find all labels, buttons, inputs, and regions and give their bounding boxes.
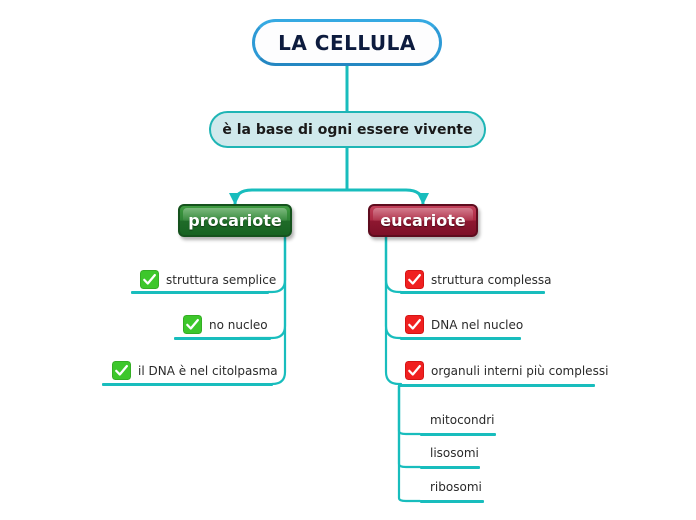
leaf-subitem-1-label: mitocondri (430, 413, 495, 427)
leaf-subitem-3-label: ribosomi (430, 480, 482, 494)
leaf-eucariote-2[interactable]: DNA nel nucleo (405, 315, 523, 334)
leaf-subitem-3[interactable]: ribosomi (430, 480, 482, 494)
green-check-icon (112, 361, 131, 380)
wire-sub-item-2 (399, 386, 420, 467)
node-procariote-label: procariote (188, 211, 281, 230)
node-subtitle-label: è la base di ogni essere vivente (222, 122, 472, 138)
leaf-subitem-2-label: lisosomi (430, 446, 479, 460)
red-check-icon (405, 361, 424, 380)
underline-eucariote-3 (399, 384, 595, 387)
leaf-eucariote-1[interactable]: struttura complessa (405, 270, 551, 289)
underline-subitem-3 (420, 500, 484, 503)
underline-procariote-3 (102, 383, 273, 386)
wire-split-left (235, 190, 347, 204)
wire-sub-item-1 (399, 386, 420, 434)
leaf-eucariote-1-label: struttura complessa (431, 273, 551, 287)
underline-procariote-1 (131, 291, 269, 294)
wire-euc-item-2 (386, 237, 401, 338)
wire-sub-item-3 (399, 386, 420, 501)
node-eucariote[interactable]: eucariote (368, 204, 478, 237)
leaf-procariote-3[interactable]: il DNA è nel citolpasma (112, 361, 278, 380)
underline-eucariote-2 (400, 337, 521, 340)
leaf-procariote-3-label: il DNA è nel citolpasma (138, 364, 278, 378)
node-root[interactable]: LA CELLULA (252, 19, 442, 66)
mindmap-canvas: LA CELLULA è la base di ogni essere vive… (0, 0, 696, 520)
leaf-procariote-2[interactable]: no nucleo (183, 315, 268, 334)
green-check-icon (183, 315, 202, 334)
node-procariote[interactable]: procariote (178, 204, 292, 237)
wire-euc-item-3 (386, 237, 401, 384)
leaf-procariote-1[interactable]: struttura semplice (140, 270, 276, 289)
underline-procariote-2 (174, 337, 271, 340)
red-check-icon (405, 315, 424, 334)
leaf-procariote-1-label: struttura semplice (166, 273, 276, 287)
wire-split-right (347, 190, 423, 204)
leaf-eucariote-3-label: organuli interni più complessi (431, 364, 608, 378)
wire-euc-item-1 (386, 237, 401, 292)
node-eucariote-label: eucariote (380, 211, 465, 230)
leaf-eucariote-3[interactable]: organuli interni più complessi (405, 361, 608, 380)
underline-subitem-1 (420, 433, 496, 436)
leaf-procariote-2-label: no nucleo (209, 318, 268, 332)
underline-eucariote-1 (400, 291, 545, 294)
node-subtitle[interactable]: è la base di ogni essere vivente (209, 111, 486, 148)
green-check-icon (140, 270, 159, 289)
underline-subitem-2 (420, 466, 480, 469)
leaf-eucariote-2-label: DNA nel nucleo (431, 318, 523, 332)
leaf-subitem-2[interactable]: lisosomi (430, 446, 479, 460)
connector-lines (0, 0, 696, 520)
node-root-label: LA CELLULA (278, 31, 416, 55)
leaf-subitem-1[interactable]: mitocondri (430, 413, 495, 427)
red-check-icon (405, 270, 424, 289)
